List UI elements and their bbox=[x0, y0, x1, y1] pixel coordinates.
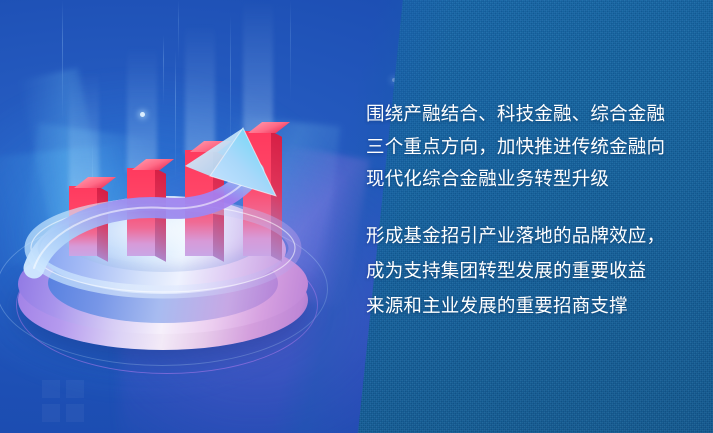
paragraph-fund-brand-effect: 形成基金招引产业落地的品牌效应， 成为支持集团转型发展的重要收益 来源和主业发展… bbox=[366, 218, 686, 323]
banner-canvas: 围绕产融结合、科技金融、综合金融 三个重点方向，加快推进传统金融向 现代化综合金… bbox=[0, 0, 713, 433]
decor-square bbox=[66, 380, 84, 398]
paragraph-line: 成为支持集团转型发展的重要收益 bbox=[366, 253, 686, 288]
light-streak bbox=[163, 35, 164, 105]
paragraph-line: 来源和主业发展的重要招商支撑 bbox=[366, 288, 686, 323]
light-streak bbox=[178, 0, 179, 60]
decor-square bbox=[42, 404, 60, 422]
decor-square bbox=[66, 404, 84, 422]
bar-light-column bbox=[243, 0, 273, 136]
paragraph-line: 现代化综合金融业务转型升级 bbox=[366, 163, 686, 196]
light-streak bbox=[290, 0, 291, 100]
paragraph-strategy-directions: 围绕产融结合、科技金融、综合金融 三个重点方向，加快推进传统金融向 现代化综合金… bbox=[366, 98, 686, 196]
upward-trend-arrow bbox=[14, 120, 310, 280]
decor-square bbox=[42, 380, 60, 398]
paragraph-line: 围绕产融结合、科技金融、综合金融 bbox=[366, 98, 686, 131]
paragraph-line: 三个重点方向，加快推进传统金融向 bbox=[366, 131, 686, 164]
paragraph-line: 形成基金招引产业落地的品牌效应， bbox=[366, 218, 686, 253]
copy-block: 围绕产融结合、科技金融、综合金融 三个重点方向，加快推进传统金融向 现代化综合金… bbox=[366, 98, 686, 323]
